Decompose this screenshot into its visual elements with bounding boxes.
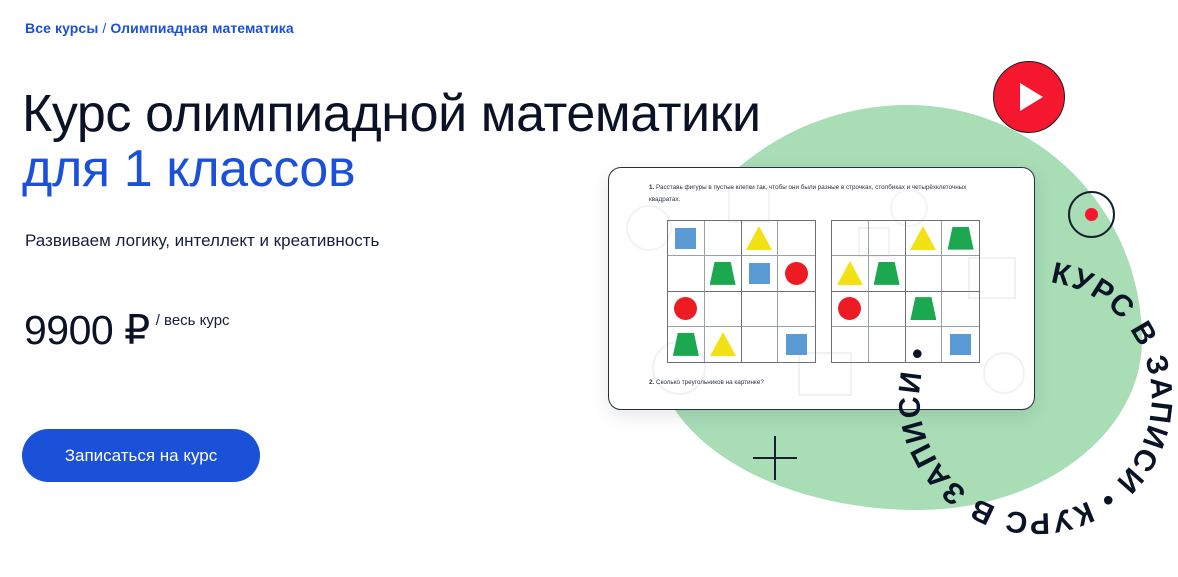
grid-cell (742, 221, 779, 256)
shape-square (786, 334, 807, 355)
shape-circle (838, 297, 861, 320)
play-triangle (1020, 83, 1043, 111)
grid-cell (832, 256, 869, 291)
grid-cell (832, 221, 869, 256)
grid-cell (832, 327, 869, 362)
sudoku-grid-left (667, 220, 816, 363)
shape-trapezoid (948, 227, 974, 250)
grid-cell (668, 221, 705, 256)
hero-section: Все курсы/Олимпиадная математика Курс ол… (0, 0, 1178, 577)
play-icon[interactable] (993, 61, 1065, 133)
circular-text-path: КУРС В ЗАПИСИ • КУРС В ЗАПИСИ • (893, 257, 1178, 540)
grid-cell (668, 292, 705, 327)
grid-cell (869, 221, 906, 256)
shape-triangle (837, 261, 863, 285)
grid-cell (705, 327, 742, 362)
shape-circle (785, 262, 808, 285)
plus-icon (753, 436, 797, 480)
grid-cell (778, 327, 815, 362)
worksheet-task-1-text: Расставь фигуры в пустые клетки так, что… (649, 184, 966, 203)
circular-badge-text: КУРС В ЗАПИСИ • КУРС В ЗАПИСИ • (893, 255, 1178, 540)
grid-cell (906, 221, 943, 256)
worksheet-task-1: 1. Расставь фигуры в пустые клетки так, … (649, 182, 984, 205)
grid-cell (668, 256, 705, 291)
grid-cell (832, 292, 869, 327)
grid-cell (778, 256, 815, 291)
grid-cell (778, 221, 815, 256)
grid-cell (705, 221, 742, 256)
shape-triangle (910, 226, 936, 250)
grid-cell (742, 256, 779, 291)
shape-square (749, 263, 770, 284)
shape-trapezoid (673, 333, 699, 356)
shape-trapezoid (710, 262, 736, 285)
shape-triangle (710, 332, 736, 356)
grid-cell (705, 256, 742, 291)
grid-cell (942, 221, 979, 256)
record-dot-inner (1085, 208, 1098, 221)
shape-triangle (746, 226, 772, 250)
worksheet-task-2-number: 2. (649, 379, 654, 386)
shape-square (675, 228, 696, 249)
worksheet-task-1-number: 1. (649, 184, 654, 191)
grid-cell (668, 327, 705, 362)
circular-text-svg: КУРС В ЗАПИСИ • КУРС В ЗАПИСИ • (893, 255, 1178, 540)
shape-circle (674, 297, 697, 320)
record-dot-icon (1068, 191, 1115, 238)
grid-cell (742, 327, 779, 362)
grid-cell (778, 292, 815, 327)
grid-cell (705, 292, 742, 327)
worksheet-task-2-text: Сколько треугольников на картинке? (656, 379, 764, 386)
grid-cell (742, 292, 779, 327)
